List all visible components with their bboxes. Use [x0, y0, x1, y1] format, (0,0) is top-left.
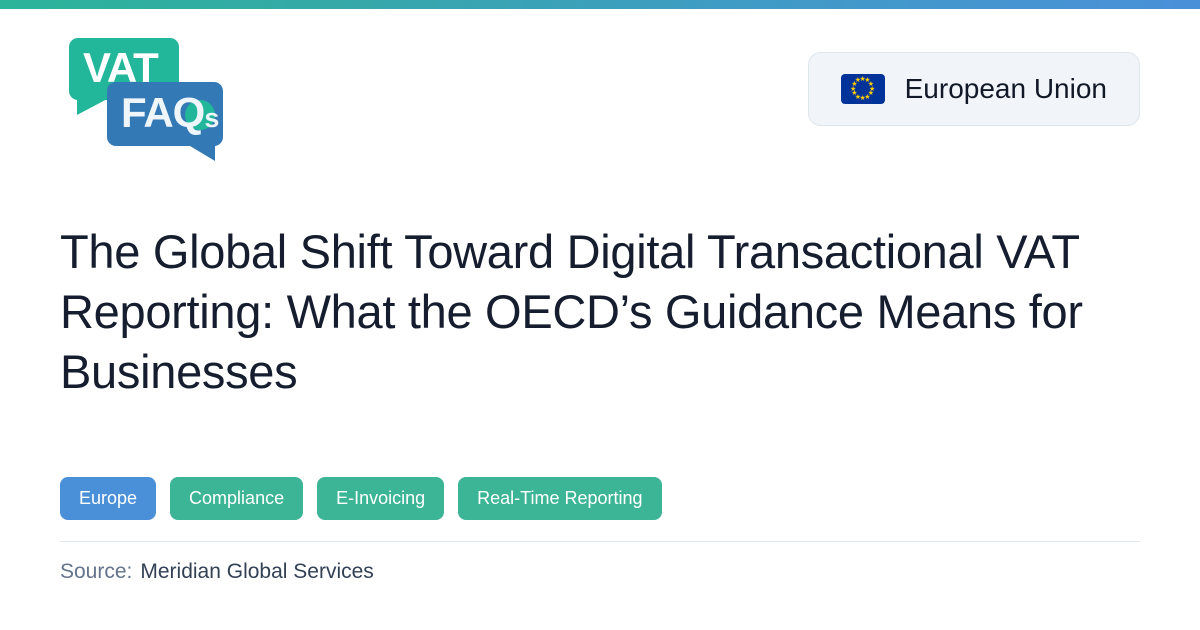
source-label: Source: [60, 560, 132, 584]
region-badge-label: European Union [905, 73, 1107, 105]
footer-divider [60, 541, 1140, 542]
logo-text-s: s [204, 103, 218, 133]
eu-flag-star: ★ [854, 77, 861, 84]
logo-blue-bubble-tail [185, 143, 215, 161]
region-badge[interactable]: ★★★★★★★★★★★★ European Union [808, 52, 1140, 126]
source-value: Meridian Global Services [140, 560, 373, 584]
logo-text-vat: VAT [83, 45, 158, 91]
tag-pill[interactable]: Real-Time Reporting [458, 477, 661, 520]
logo-green-bubble-tail [77, 97, 111, 115]
eu-flag-icon: ★★★★★★★★★★★★ [841, 74, 885, 104]
vatfaqs-logo[interactable]: VAT FAQs [69, 38, 229, 154]
source-line: Source: Meridian Global Services [60, 560, 374, 584]
header: VAT FAQs ★★★★★★★★★★★★ European Union [60, 38, 1140, 154]
logo-text-faq: FAQ [121, 89, 204, 136]
logo-text-faqs: FAQs [121, 90, 218, 141]
tag-pill[interactable]: Compliance [170, 477, 303, 520]
top-gradient-bar [0, 0, 1200, 9]
tag-pill[interactable]: Europe [60, 477, 156, 520]
tag-list: EuropeComplianceE-InvoicingReal-Time Rep… [60, 477, 662, 520]
tag-pill[interactable]: E-Invoicing [317, 477, 444, 520]
page-title: The Global Shift Toward Digital Transact… [60, 222, 1140, 402]
